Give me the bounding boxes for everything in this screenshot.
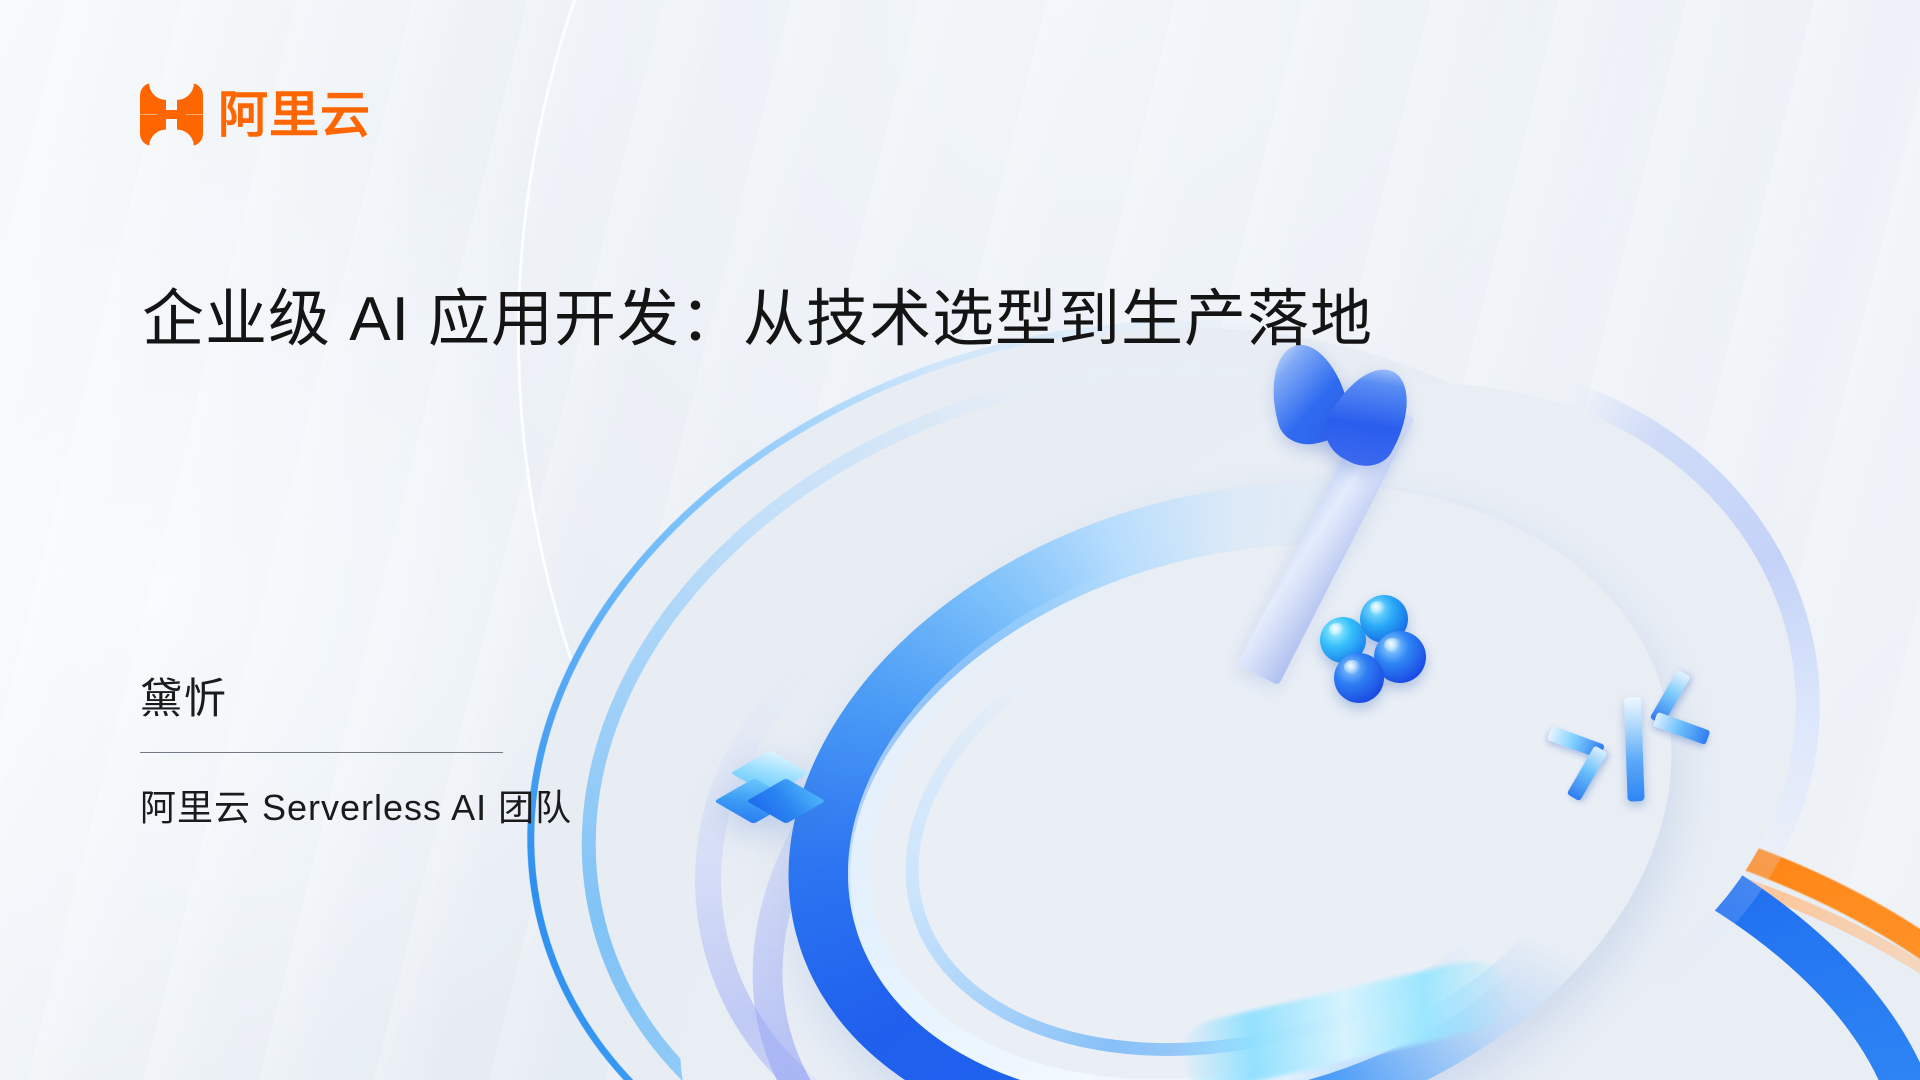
orange-ribbon-highlight: [687, 771, 1920, 1080]
disc-bands: [520, 0, 1920, 1080]
cube-face-top: [731, 750, 810, 796]
background-sheen: [0, 0, 1920, 1080]
spheres-cluster-icon: [1320, 595, 1450, 710]
torus-inner-ring: [780, 447, 1690, 1080]
cube-3d-icon: [733, 755, 807, 829]
cube-face-right: [747, 778, 826, 824]
presenter-name: 黛忻: [140, 665, 228, 726]
sphere-4: [1334, 653, 1384, 703]
indigo-band: [658, 412, 1822, 1080]
background-bands: [0, 0, 1920, 1080]
pale-ribbon-rising: [1017, 334, 1844, 1080]
outer-pale-hoop: [490, 249, 1761, 1080]
warm-glow-bottom-right: [1100, 500, 1920, 1080]
cube-face-left: [714, 778, 794, 824]
sphere-2: [1320, 617, 1366, 663]
cyan-highlight-streak: [1176, 954, 1513, 1080]
presenter-affiliation: 阿里云 Serverless AI 团队: [140, 779, 572, 831]
pale-ribbon-left: [667, 572, 1282, 1080]
blue-ribbon-torus: [709, 383, 1751, 1080]
code-brackets-icon: [1540, 661, 1760, 839]
brand-logo[interactable]: 阿里云: [140, 83, 371, 146]
decorative-artwork: [480, 300, 1920, 1080]
title-slide: 阿里云 企业级 AI 应用开发：从技术选型到生产落地 黛忻 阿里云 Server…: [0, 0, 1920, 1080]
divider: [140, 752, 503, 753]
arrow-blade-right: [1315, 355, 1426, 477]
page-title: 企业级 AI 应用开发：从技术选型到生产落地: [142, 268, 1373, 358]
background-disc: [520, 0, 1920, 1080]
slash-bar: [1624, 697, 1645, 802]
sphere-3: [1374, 631, 1426, 683]
logo-dash: [157, 110, 186, 119]
arrow-shaft: [1238, 397, 1415, 685]
orange-ribbon: [660, 731, 1920, 1080]
chevron-right-icon: [1641, 673, 1741, 773]
alibaba-cloud-logo-icon: [140, 83, 203, 146]
torus-core-ring: [849, 504, 1638, 1080]
sphere-1: [1360, 595, 1408, 643]
lower-blue-band: [584, 642, 1920, 1080]
chevron-left-icon: [1547, 718, 1647, 818]
brand-name: 阿里云: [218, 90, 371, 140]
